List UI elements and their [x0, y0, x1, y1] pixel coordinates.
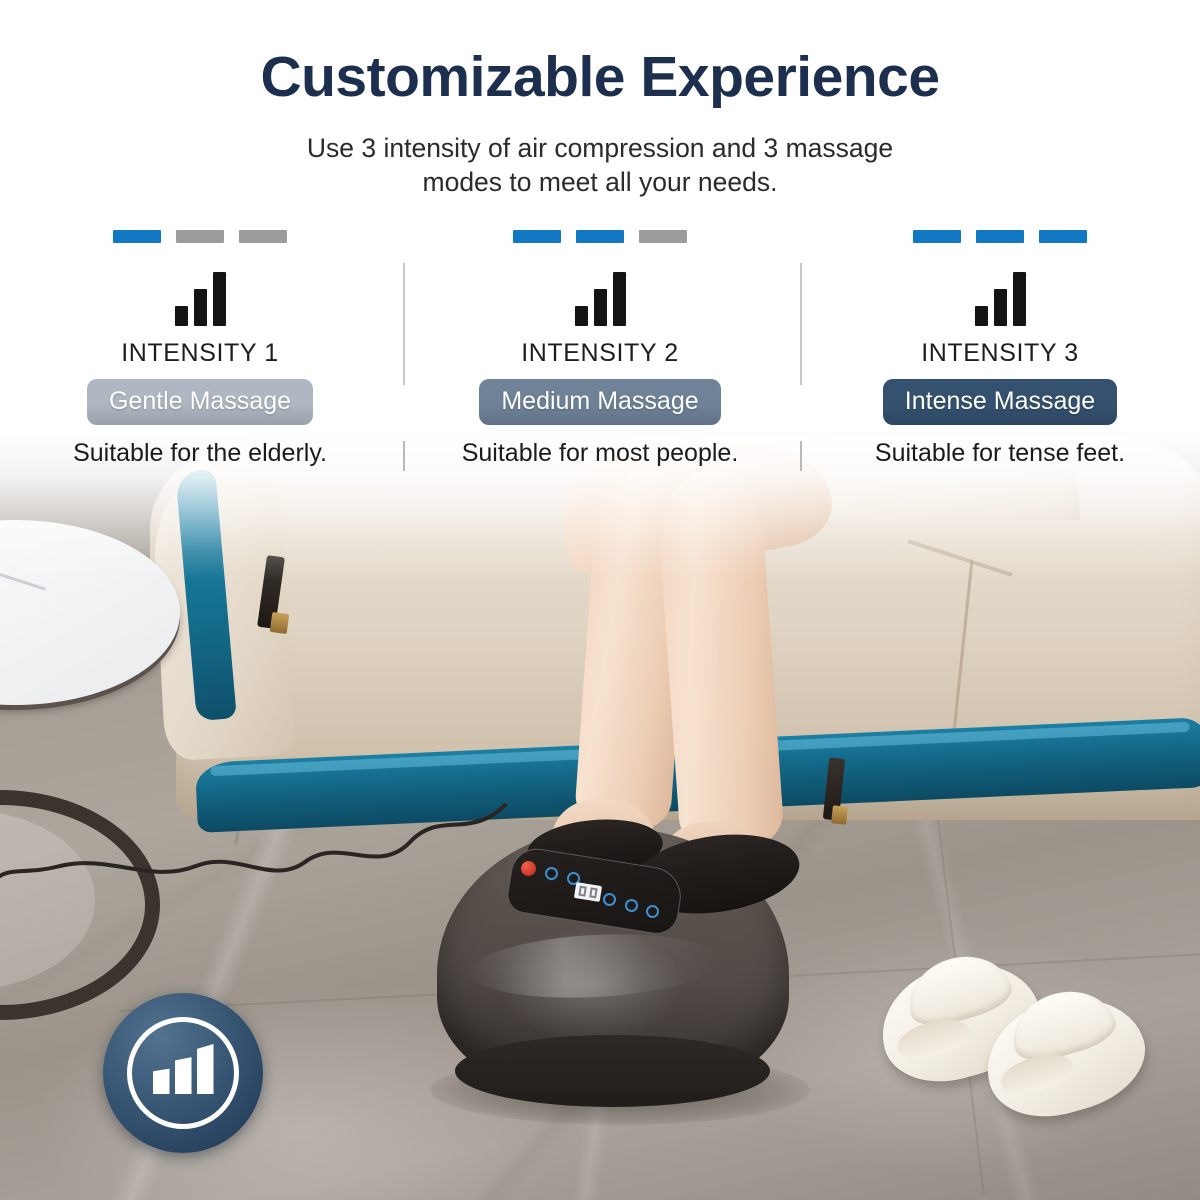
intensity-caption-2: Suitable for most people. — [462, 439, 739, 468]
column-divider — [403, 263, 405, 385]
mode-button-icon — [545, 867, 558, 880]
bar-small — [575, 306, 588, 326]
intensity-label-3: INTENSITY 3 — [921, 339, 1079, 368]
segment-inactive — [639, 230, 687, 243]
badge-bars — [153, 1044, 214, 1094]
segment-inactive — [176, 230, 224, 243]
mode-button-icon — [646, 905, 659, 918]
intensity-column-3: INTENSITY 3 Intense Massage Suitable for… — [800, 228, 1200, 480]
badge-bar-large — [197, 1044, 214, 1094]
signal-bars-icon — [975, 270, 1026, 326]
segment-indicator-1 — [113, 230, 287, 243]
intensity-column-1: INTENSITY 1 Gentle Massage Suitable for … — [0, 228, 400, 480]
intensity-caption-3: Suitable for tense feet. — [875, 439, 1125, 468]
badge-bar-medium — [175, 1056, 192, 1094]
bar-large — [1013, 272, 1026, 326]
bar-large — [213, 272, 226, 326]
segment-active — [976, 230, 1024, 243]
bar-medium — [994, 289, 1007, 326]
bar-medium — [594, 289, 607, 326]
segment-active — [913, 230, 961, 243]
subtitle-line-2: modes to meet all your needs. — [150, 165, 1050, 199]
intensity-label-1: INTENSITY 1 — [121, 339, 279, 368]
signal-bars-icon — [175, 270, 226, 326]
intensity-column-2: INTENSITY 2 Medium Massage Suitable for … — [400, 228, 800, 480]
mode-button-icon — [603, 893, 616, 906]
signal-bars-icon — [575, 270, 626, 326]
column-divider — [403, 441, 405, 471]
page-subtitle: Use 3 intensity of air compression and 3… — [150, 131, 1050, 199]
intensity-caption-1: Suitable for the elderly. — [73, 439, 327, 468]
mode-badge-2: Medium Massage — [479, 379, 720, 425]
bar-small — [175, 306, 188, 326]
segment-active — [576, 230, 624, 243]
bar-large — [613, 272, 626, 326]
led-digit — [578, 886, 586, 897]
badge-bar-small — [153, 1067, 170, 1094]
infographic-page: Customizable Experience Use 3 intensity … — [0, 0, 1200, 1200]
segment-active — [1039, 230, 1087, 243]
power-button-icon — [521, 861, 536, 876]
intensity-label-2: INTENSITY 2 — [521, 339, 679, 368]
intensity-columns: INTENSITY 1 Gentle Massage Suitable for … — [0, 228, 1200, 480]
column-divider — [800, 263, 802, 385]
bar-medium — [194, 289, 207, 326]
led-digit — [589, 887, 597, 898]
segment-indicator-3 — [913, 230, 1087, 243]
segment-inactive — [239, 230, 287, 243]
mode-badge-3: Intense Massage — [883, 379, 1117, 425]
segment-active — [113, 230, 161, 243]
sofa-leg-brass-tip — [270, 612, 290, 634]
mode-button-icon — [625, 899, 638, 912]
segment-indicator-2 — [513, 230, 687, 243]
subtitle-line-1: Use 3 intensity of air compression and 3… — [150, 131, 1050, 165]
segment-active — [513, 230, 561, 243]
column-divider — [800, 441, 802, 471]
massager-base — [455, 1035, 770, 1107]
intensity-level-icon — [103, 993, 263, 1153]
sofa-leg-brass-tip — [831, 805, 848, 824]
badge-ring — [127, 1017, 239, 1129]
bar-small — [975, 306, 988, 326]
mode-badge-1: Gentle Massage — [87, 379, 313, 425]
page-title: Customizable Experience — [0, 44, 1200, 110]
